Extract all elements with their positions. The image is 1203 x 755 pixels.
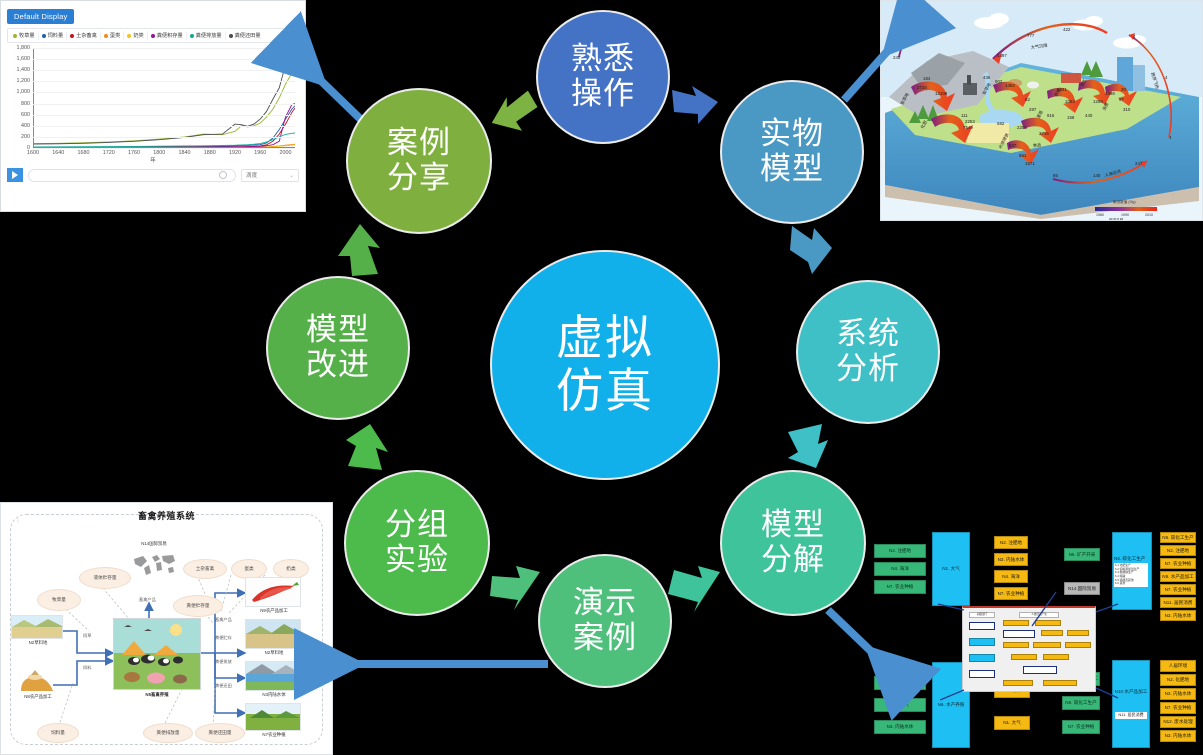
chevron-down-icon: ⌄ (289, 172, 294, 179)
decomp-subcard-list: 6.1 化肥生产 6.2 饲料添加剂生产 6.3 碳酸钠生产 6.4 纯碱 6.… (1114, 563, 1148, 587)
decomp-box[interactable]: N2. 注肥地 (874, 544, 926, 558)
connector-group-to-livestock (334, 650, 556, 678)
node-group-experiment[interactable]: 分组 实验 (346, 472, 488, 614)
gridline (33, 70, 295, 71)
chart-legend: 牧草量 饲料量 土杂畜禽 蛋类 奶类 粪便积存量 粪便排放量 粪便还田量 (7, 28, 299, 43)
node-label-line2: 分析 (836, 352, 900, 387)
x-axis-label: 年 (150, 156, 155, 164)
speed-select-value: 滴度 (246, 171, 257, 179)
node-caption: N5畜禽养殖 (113, 692, 201, 698)
legend-item[interactable]: 土杂畜禽 (67, 31, 101, 40)
arrow-improve-to-share (336, 222, 388, 280)
chart-canvas: 02004006008001,0001,2001,4001,6001,800 1… (33, 48, 295, 148)
decomp-box-label: N10.水产品加工 (1115, 689, 1148, 694)
legend-label: 牧草量 (19, 32, 35, 39)
chart-series-svg (33, 48, 295, 148)
node-label-line1: 系统 (836, 317, 900, 352)
oval-node[interactable]: 液体贮存量 (79, 567, 131, 589)
svg-text:287: 287 (1029, 107, 1037, 112)
svg-text:111: 111 (961, 113, 968, 118)
legend-label: 粪便排放量 (196, 32, 222, 39)
color-scale-bar (1095, 207, 1157, 211)
center-farm-image[interactable] (113, 618, 201, 690)
legend-color-swatch (190, 34, 194, 38)
gridline (33, 48, 295, 49)
physical-model-landscape-panel: 240 240 240 777 1497 422 4 4 4 184 2720 … (880, 0, 1203, 221)
node-caption: N7农业种植 (241, 732, 307, 738)
legend-color-swatch (151, 34, 155, 38)
y-tick-label: 1,800 (17, 45, 31, 51)
svg-text:2253: 2253 (965, 119, 975, 124)
center-node-virtual-simulation[interactable]: 虚拟 仿真 (492, 252, 718, 478)
node-label-line1: 演示 (573, 586, 637, 621)
svg-text:97: 97 (1119, 97, 1124, 102)
flow-label: 饲料 (83, 665, 91, 671)
feed-sack-icon (13, 669, 61, 693)
svg-text:62: 62 (1025, 97, 1030, 102)
play-button[interactable] (7, 168, 23, 182)
legend-item[interactable]: 蛋类 (101, 31, 124, 40)
svg-text:7549: 7549 (963, 125, 973, 130)
node-label-line1: 熟悉 (571, 42, 635, 77)
output-image-node[interactable] (245, 703, 301, 731)
scale-title: 碳流数值 (Gg) (1113, 199, 1136, 204)
thumb-box[interactable] (1043, 654, 1069, 660)
thumb-box[interactable] (1065, 642, 1091, 648)
farm-illustration-icon (114, 619, 201, 690)
node-label-line2: 案例 (573, 621, 637, 656)
svg-text:3715: 3715 (1039, 131, 1049, 136)
scale-caption: 碳流名称 (1109, 217, 1124, 221)
decomp-box[interactable]: N12. 废水处理 (1160, 716, 1196, 728)
decomp-subcard[interactable]: N6. 碳化工生产 6.1 化肥生产 6.2 饲料添加剂生产 6.3 碳酸钠生产… (1112, 532, 1152, 610)
y-tick-label: 1,400 (17, 67, 31, 73)
decomp-box[interactable]: N4. 海洋 (874, 562, 926, 576)
thumb-box[interactable] (1003, 680, 1033, 686)
gridline (33, 104, 295, 105)
node-caption: N14国际贸易 (119, 541, 189, 547)
cropfield-icon (246, 704, 301, 731)
x-tick-label: 1600 (27, 150, 39, 156)
x-tick-label: 1920 (229, 150, 241, 156)
slider-handle[interactable] (219, 171, 227, 179)
thumb-box[interactable] (1003, 620, 1029, 626)
node-label-line2: 实验 (385, 543, 449, 578)
flow-label: 粪便贮存 (215, 635, 232, 641)
svg-text:1980: 1980 (1096, 213, 1104, 217)
decomp-box[interactable]: N4. 海洋 (994, 570, 1028, 583)
node-system-analysis[interactable]: 系统 分析 (798, 282, 938, 422)
y-tick-label: 800 (21, 101, 30, 107)
gridline (33, 92, 295, 93)
decomp-box[interactable]: 人居环境 (1160, 660, 1196, 672)
timeline-slider[interactable] (28, 169, 236, 182)
node-caption: N8农产品加工 (7, 694, 69, 700)
x-tick-label: 1840 (179, 150, 191, 156)
thumb-box-selected[interactable] (969, 670, 995, 678)
x-tick-label: 2000 (280, 150, 292, 156)
grassland-icon (246, 620, 301, 649)
source-model-thumbnail[interactable]: 初级部门 人类活动产生 (962, 606, 1096, 692)
chart-series-line (33, 52, 295, 144)
arrow-sysanalysis-to-decompose (778, 420, 832, 478)
play-icon (12, 171, 18, 179)
decomp-inner-chip[interactable]: N11. 居民消费 (1115, 712, 1146, 718)
thumb-box[interactable] (1011, 654, 1037, 660)
svg-text:2720: 2720 (917, 85, 927, 90)
svg-text:1497: 1497 (997, 53, 1007, 58)
decomp-box[interactable]: N14.国际贸易 (1064, 582, 1100, 595)
decomp-box[interactable]: N7. 农业种植 (1160, 702, 1196, 714)
y-tick-label: 400 (21, 123, 30, 129)
node-label-line1: 分组 (385, 508, 449, 543)
gridline (33, 81, 295, 82)
thumb-box[interactable] (1041, 630, 1063, 636)
decomp-box[interactable]: N9. 水产品加工 (1160, 571, 1196, 582)
decomp-box[interactable]: N3. 内陆水体 (1160, 730, 1196, 742)
node-model-decomposition[interactable]: 模型 分解 (722, 472, 864, 614)
decomp-box[interactable]: N12. 废水处理 (874, 676, 926, 690)
node-caption: N9农产品加工 (241, 608, 307, 614)
gridline (33, 59, 295, 60)
legend-color-swatch (229, 34, 233, 38)
svg-text:440: 440 (1085, 113, 1093, 118)
node-demo-case[interactable]: 演示 案例 (540, 556, 670, 686)
center-node-line1: 虚拟 (556, 312, 654, 365)
thumb-col-title: 初级部门 (969, 612, 995, 618)
decomp-box[interactable]: N7. 农业种植 (1062, 720, 1100, 734)
decomp-box[interactable]: N5. 矿产开采 (1064, 548, 1100, 561)
oval-node[interactable]: 牧草量 (37, 589, 81, 611)
svg-text:1063: 1063 (1065, 99, 1075, 104)
node-caption: N2草料地 (241, 650, 307, 656)
thumb-col-title: 人类活动产生 (1019, 612, 1059, 618)
y-tick-label: 1,200 (17, 78, 31, 84)
center-node-line2: 仿真 (556, 365, 654, 418)
legend-label: 粪便积存量 (157, 32, 183, 39)
arrow-demo-to-group (486, 562, 544, 612)
oval-node[interactable]: 粪便排放量 (143, 723, 193, 743)
legend-color-swatch (104, 34, 108, 38)
thumb-box[interactable] (969, 654, 995, 662)
slide-canvas: Default Display 牧草量 饲料量 土杂畜禽 蛋类 奶类 粪便积存量… (0, 0, 1203, 755)
thumb-box[interactable] (1003, 642, 1029, 648)
svg-text:20: 20 (1121, 87, 1126, 92)
legend-item[interactable]: 饲料量 (39, 31, 68, 40)
thumb-box-selected[interactable] (1003, 630, 1035, 638)
node-label-line2: 分享 (387, 161, 451, 196)
svg-text:12109: 12109 (935, 91, 948, 96)
subcard-item[interactable]: 6.6 其他 (1115, 582, 1147, 586)
decomp-box[interactable]: N3. 内陆水体 (1160, 610, 1196, 621)
thumb-box[interactable] (1067, 630, 1089, 636)
arrow-decompose-to-demo (664, 560, 724, 612)
output-image-node[interactable] (245, 661, 301, 691)
thumb-box[interactable] (969, 638, 995, 646)
decomp-box[interactable]: N2. 化肥地 (1160, 674, 1196, 686)
speed-select[interactable]: 滴度 ⌄ (241, 169, 299, 182)
decomp-box[interactable]: N7. 农业种植 (994, 587, 1028, 600)
gridline (33, 115, 295, 116)
node-label-line2: 操作 (571, 77, 635, 112)
node-label-line2: 分解 (761, 543, 825, 578)
flow-label: 粪便排放 (215, 659, 232, 665)
svg-text:158: 158 (1067, 115, 1075, 120)
oval-node[interactable]: 奶类 (273, 559, 309, 579)
svg-text:2010: 2010 (1145, 213, 1153, 217)
node-label-line1: 实物 (760, 117, 824, 152)
svg-text:310: 310 (1123, 107, 1131, 112)
legend-item[interactable]: 粪便还田量 (226, 31, 264, 40)
chili-icon (246, 578, 301, 607)
connector-decompose-to-boxes (822, 604, 892, 668)
svg-text:1571: 1571 (1025, 161, 1035, 166)
svg-text:1990: 1990 (1121, 213, 1129, 217)
legend-item[interactable]: 粪便积存量 (148, 31, 187, 40)
legend-label: 饲料量 (48, 32, 64, 39)
legend-color-swatch (42, 34, 46, 38)
model-decomposition-panel: N2. 注肥地 N4. 海洋 N7. 农业种植 N1. 大气 N2. 注肥地 N… (860, 520, 1203, 755)
legend-label: 蛋类 (110, 32, 120, 39)
world-map-icon (131, 551, 177, 577)
input-image-node[interactable] (13, 669, 61, 693)
carbon-cycle-svg: 240 240 240 777 1497 422 4 4 4 184 2720 … (881, 1, 1203, 221)
decomp-box[interactable]: N7. 农业种植 (874, 580, 926, 594)
legend-color-swatch (13, 34, 17, 38)
svg-text:861: 861 (1019, 153, 1027, 158)
svg-text:902: 902 (995, 79, 1003, 84)
legend-item[interactable]: 粪便排放量 (187, 31, 226, 40)
decomp-box[interactable]: N6. 碳化工生产 (1160, 532, 1196, 543)
svg-text:240: 240 (917, 29, 925, 34)
svg-text:86: 86 (1053, 173, 1058, 178)
decomp-box-atmosphere[interactable]: N1. 大气 (932, 532, 970, 606)
svg-text:777: 777 (1027, 33, 1035, 38)
arrow-group-to-improve (340, 418, 394, 476)
legend-label: 奶类 (133, 32, 143, 39)
output-image-node[interactable] (245, 577, 301, 607)
svg-text:247: 247 (1135, 161, 1143, 166)
chart-series-line (33, 69, 295, 143)
x-tick-label: 1640 (52, 150, 64, 156)
decomp-box[interactable]: N2. 注肥地 (994, 536, 1028, 549)
decomp-box[interactable]: N3. 内陆水体 (994, 553, 1028, 566)
svg-text:1382: 1382 (1005, 83, 1015, 88)
legend-color-swatch (127, 34, 131, 38)
svg-text:1898: 1898 (1105, 91, 1115, 96)
oval-node[interactable]: 土杂畜禽 (183, 559, 227, 579)
flow-label: 饲草 (83, 633, 91, 639)
barn-icon (1061, 73, 1081, 83)
node-label-line2: 模型 (760, 152, 824, 187)
decomp-box[interactable]: N1. 大气 (874, 698, 926, 712)
group-experiment-livestock-panel: ⋮ 畜禽养殖系统 (0, 502, 333, 755)
arrow-share-to-familiar (488, 88, 540, 136)
decomp-box[interactable]: N7. 农业种植 (1160, 558, 1196, 569)
thumb-box[interactable] (1043, 680, 1077, 686)
y-axis (33, 48, 34, 148)
legend-color-swatch (70, 34, 74, 38)
node-model-improvement[interactable]: 模型 改进 (268, 278, 408, 418)
svg-text:422: 422 (1063, 27, 1071, 32)
legend-label: 粪便还田量 (235, 32, 261, 39)
flow-label: 畜禽产品 (215, 617, 232, 623)
node-label-line1: 模型 (306, 313, 370, 348)
x-tick-label: 1960 (254, 150, 266, 156)
decomp-box[interactable]: N3. 内陆水体 (874, 720, 926, 734)
x-tick-label: 1880 (204, 150, 216, 156)
node-label-line2: 改进 (306, 348, 370, 383)
decomp-box[interactable]: N1. 大气 (994, 716, 1030, 730)
legend-item[interactable]: 奶类 (124, 31, 147, 40)
flow-label: 畜禽产品 (139, 597, 156, 603)
node-familiar-operation[interactable]: 熟悉 操作 (538, 12, 668, 142)
svg-text:184: 184 (923, 76, 931, 81)
svg-text:2255: 2255 (1017, 125, 1027, 130)
pasture-icon (12, 616, 63, 639)
decomp-box[interactable]: N7. 农业种植 (1160, 584, 1196, 595)
svg-text:916: 916 (1047, 113, 1055, 118)
chart-timeline-controls: 滴度 ⌄ (7, 168, 299, 182)
legend-label: 土杂畜禽 (76, 32, 97, 39)
default-display-button[interactable]: Default Display (7, 9, 74, 24)
input-image-node[interactable] (11, 615, 63, 639)
x-tick-label: 1720 (103, 150, 115, 156)
gridline (33, 137, 295, 138)
decomp-box[interactable]: N2. 注肥地 (1160, 545, 1196, 556)
decomp-box-residents[interactable]: N10.水产品加工 N11. 居民消费 (1112, 660, 1150, 748)
flow-label: 粪便还田 (215, 683, 232, 689)
chart-plot-area: 02004006008001,0001,2001,4001,6001,800 1… (7, 46, 299, 164)
y-tick-label: 200 (21, 134, 30, 140)
x-tick-label: 1760 (128, 150, 140, 156)
node-label-line1: 模型 (761, 508, 825, 543)
node-case-sharing[interactable]: 案例 分享 (348, 90, 490, 232)
gridline (33, 126, 295, 127)
svg-text:140: 140 (1093, 173, 1101, 178)
decomp-box[interactable]: N11. 居民消费 (1160, 597, 1196, 608)
output-image-node[interactable] (245, 619, 301, 649)
arrow-familiar-to-physical (668, 84, 724, 136)
case-sharing-chart-panel: Default Display 牧草量 饲料量 土杂畜禽 蛋类 奶类 粪便积存量… (0, 0, 306, 212)
node-label-line1: 案例 (387, 126, 451, 161)
x-tick-label: 1680 (78, 150, 90, 156)
oval-node[interactable]: 饲料量 (37, 723, 79, 743)
decomp-box[interactable]: N6. 碳化工生产 (1062, 696, 1100, 710)
decomp-box[interactable]: N3. 内陆水体 (1160, 688, 1196, 700)
legend-item[interactable]: 牧草量 (10, 31, 39, 40)
oval-node[interactable]: 粪便贮存量 (173, 595, 223, 617)
connector-physical-to-landscape (834, 30, 904, 106)
sheep-icon (1027, 82, 1039, 89)
y-tick-label: 1,000 (17, 89, 31, 95)
node-physical-model[interactable]: 实物 模型 (722, 82, 862, 222)
thumb-box[interactable] (1033, 642, 1061, 648)
thumb-box-selected[interactable] (1023, 666, 1057, 674)
svg-text:436: 436 (983, 75, 991, 80)
y-tick-label: 1,600 (17, 56, 31, 62)
thumb-box-selected[interactable] (969, 622, 995, 630)
thumb-box[interactable] (1035, 620, 1061, 626)
node-caption: N2草料地 (7, 640, 69, 646)
arrow-physical-to-sysanalysis (786, 222, 838, 280)
svg-text:537: 537 (1009, 143, 1017, 148)
lake-mountain-icon (246, 662, 301, 691)
oval-node[interactable]: 粪便还田量 (195, 723, 245, 743)
svg-text:1298: 1298 (1093, 99, 1103, 104)
y-tick-label: 600 (21, 112, 30, 118)
decomp-subcard-title: N6. 碳化工生产 (1114, 556, 1145, 561)
node-caption: N3内陆水体 (241, 692, 307, 698)
oval-node[interactable]: 蛋类 (231, 559, 267, 579)
gridline (33, 148, 295, 149)
svg-text:682: 682 (997, 121, 1005, 126)
world-map-node[interactable] (131, 551, 177, 577)
